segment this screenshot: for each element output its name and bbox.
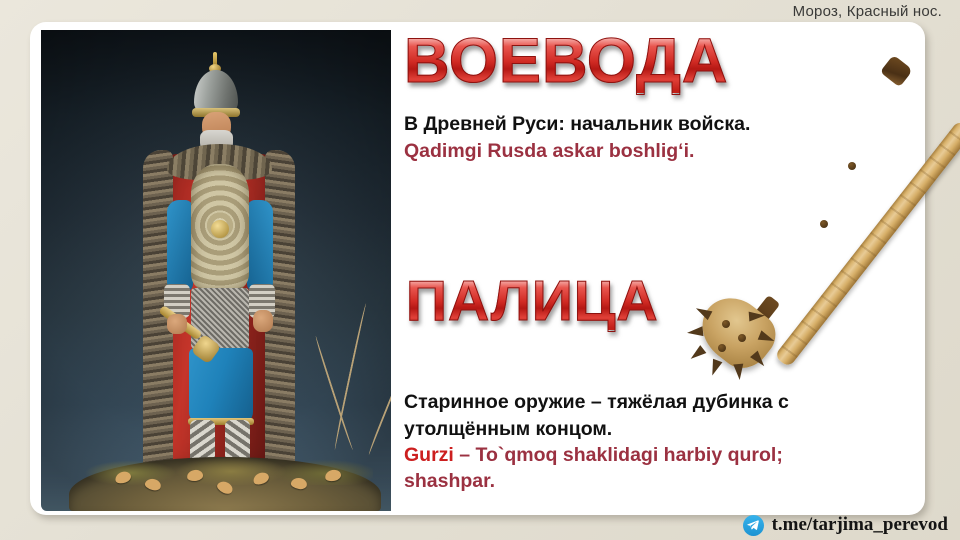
palitsa-definition-ru-line2: утолщённым концом. [404, 417, 884, 443]
title-palitsa: ПАЛИЦА [406, 273, 659, 330]
definitions-column: ВОЕВОДА В Древней Руси: начальник войска… [400, 30, 915, 510]
palitsa-definition-uz-line1: Gurzi – To`qmoq shaklidagi harbiy qurol; [404, 443, 884, 469]
telegram-icon[interactable] [743, 515, 764, 536]
palitsa-definition-uz-line2: shashpar. [404, 469, 884, 495]
hand-left [167, 314, 187, 334]
armor-center-boss [211, 220, 229, 238]
palitsa-definition-ru-line1: Старинное оружие – тяжёлая дубинка с [404, 390, 884, 416]
palitsa-uz-rest: – To`qmoq shaklidagi harbiy qurol; [454, 444, 783, 466]
palitsa-uz-keyword: Gurzi [404, 444, 454, 466]
blue-tunic [189, 348, 253, 424]
slide-header-note: Мороз, Красный нос. [793, 3, 942, 20]
sleeve-left [167, 200, 193, 292]
figurine-body [137, 52, 302, 492]
telegram-link-text[interactable]: t.me/tarjima_perevod [772, 514, 948, 536]
voevoda-definition-ru: В Древней Руси: начальник войска. [404, 112, 874, 138]
footer-credit[interactable]: t.me/tarjima_perevod [743, 514, 948, 536]
voevoda-definition-uz: Qadimgi Rusda askar boshlig‘i. [404, 139, 874, 165]
slide-canvas: Мороз, Красный нос. [0, 0, 960, 540]
definition-palitsa: Старинное оружие – тяжёлая дубинка с уто… [404, 390, 884, 495]
voivode-figurine-photo [41, 30, 391, 511]
sleeve-right [247, 200, 273, 292]
title-voevoda: ВОЕВОДА [404, 30, 728, 93]
hand-right [253, 310, 273, 332]
definition-voevoda: В Древней Руси: начальник войска. Qadimg… [404, 112, 874, 164]
